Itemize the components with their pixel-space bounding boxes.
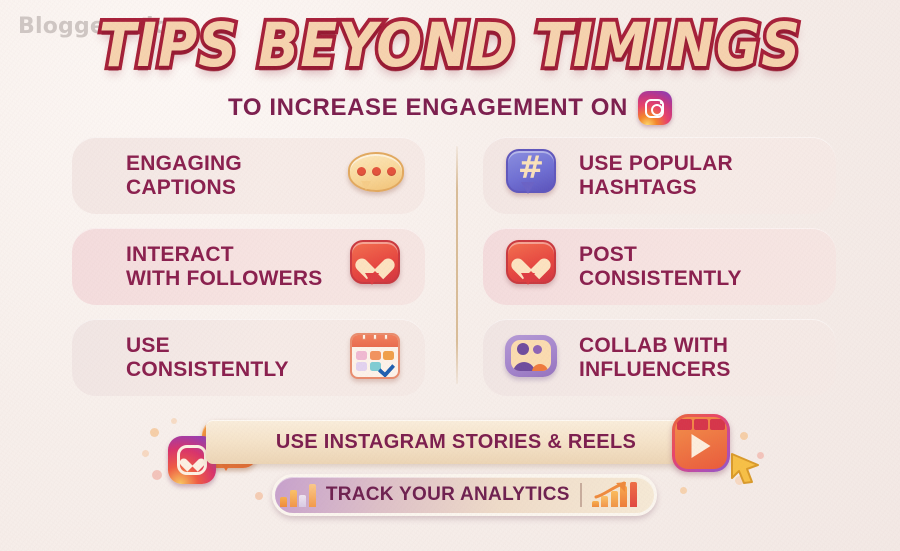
subtitle-text: TO INCREASE ENGAGEMENT ON	[228, 94, 628, 122]
banner-track-your-analytics[interactable]: TRACK YOUR ANALYTICS	[272, 474, 657, 516]
tip-card-post-consistently[interactable]: POST CONSISTENTLY	[483, 228, 836, 305]
tip-label: COLLAB WITH INFLUENCERS	[565, 334, 731, 382]
tips-column-left: ENGAGING CAPTIONS INTERACT WITH FOLLOWER…	[72, 137, 425, 410]
tip-label: USE POPULAR HASHTAGS	[565, 152, 733, 200]
banner-label: TRACK YOUR ANALYTICS	[326, 484, 570, 506]
page-title: TIPS BEYOND TIMINGS	[99, 10, 801, 81]
decor-dot	[150, 428, 159, 437]
tip-label: POST CONSISTENTLY	[565, 243, 742, 291]
tip-card-use-consistently[interactable]: USE CONSISTENTLY	[72, 319, 425, 396]
tip-label: INTERACT WITH FOLLOWERS	[88, 243, 322, 291]
banner-label: USE INSTAGRAM STORIES & REELS	[276, 431, 636, 454]
tips-column-right: # USE POPULAR HASHTAGS POST CONSISTENTLY…	[483, 137, 836, 410]
banner-use-instagram-stories-reels[interactable]: USE INSTAGRAM STORIES & REELS	[206, 420, 706, 464]
tip-label: ENGAGING CAPTIONS	[88, 152, 242, 200]
speech-bubble-dots-icon	[343, 145, 409, 207]
column-divider	[456, 146, 458, 384]
heart-bubble-icon	[499, 236, 565, 298]
instagram-icon	[638, 91, 672, 125]
growth-chart-icon	[592, 483, 649, 507]
page-subtitle: TO INCREASE ENGAGEMENT ON	[0, 91, 900, 125]
decor-dot	[740, 432, 748, 440]
decor-dot	[255, 492, 263, 500]
cursor-arrow-icon	[728, 452, 762, 486]
tip-card-interact-with-followers[interactable]: INTERACT WITH FOLLOWERS	[72, 228, 425, 305]
people-group-icon	[499, 327, 565, 389]
calendar-check-icon	[343, 327, 409, 389]
decor-dot	[142, 450, 149, 457]
tip-card-engaging-captions[interactable]: ENGAGING CAPTIONS	[72, 137, 425, 214]
infographic-canvas: Bloggervoice TIPS BEYOND TIMINGS TO INCR…	[0, 0, 900, 551]
divider	[580, 483, 582, 507]
tip-card-collab-with-influencers[interactable]: COLLAB WITH INFLUENCERS	[483, 319, 836, 396]
decor-dot	[680, 487, 687, 494]
tip-card-use-popular-hashtags[interactable]: # USE POPULAR HASHTAGS	[483, 137, 836, 214]
heart-bubble-icon	[343, 236, 409, 298]
reels-icon	[672, 414, 730, 472]
hashtag-bubble-icon: #	[499, 145, 565, 207]
bar-chart-icon	[280, 483, 316, 507]
tip-label: USE CONSISTENTLY	[88, 334, 289, 382]
header: TIPS BEYOND TIMINGS TO INCREASE ENGAGEME…	[0, 14, 900, 125]
